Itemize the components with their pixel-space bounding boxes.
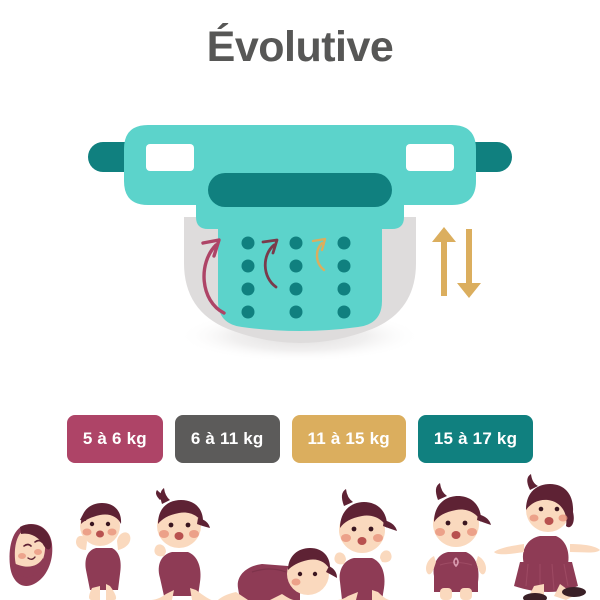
baby-stage-seated (334, 489, 397, 600)
diaper-waistband-bar (208, 173, 392, 207)
baby-stage-crawling (218, 548, 337, 600)
badge-6-11-kg[interactable]: 6 à 11 kg (175, 415, 280, 463)
baby-stage-lying (76, 503, 130, 600)
diaper-illustration (0, 105, 600, 380)
diaper-hook-left (146, 144, 194, 171)
badge-label: 11 à 15 kg (308, 429, 390, 449)
up-down-resize-arrows-icon (432, 227, 481, 298)
badge-label: 5 à 6 kg (83, 429, 147, 449)
baby-stage-standing (426, 483, 491, 600)
badge-11-15-kg[interactable]: 11 à 15 kg (292, 415, 406, 463)
badge-label: 6 à 11 kg (191, 429, 264, 449)
baby-stage-sitting-up (150, 488, 212, 600)
baby-stage-swaddled (10, 524, 53, 586)
size-badge-row: 5 à 6 kg 6 à 11 kg 11 à 15 kg 15 à 17 kg (40, 412, 560, 466)
baby-stage-walking (494, 474, 600, 600)
diaper-hook-right (406, 144, 454, 171)
baby-stages-row (0, 470, 600, 600)
badge-5-6-kg[interactable]: 5 à 6 kg (67, 415, 163, 463)
page-title: Évolutive (0, 24, 600, 71)
badge-label: 15 à 17 kg (434, 429, 517, 449)
badge-15-17-kg[interactable]: 15 à 17 kg (418, 415, 533, 463)
